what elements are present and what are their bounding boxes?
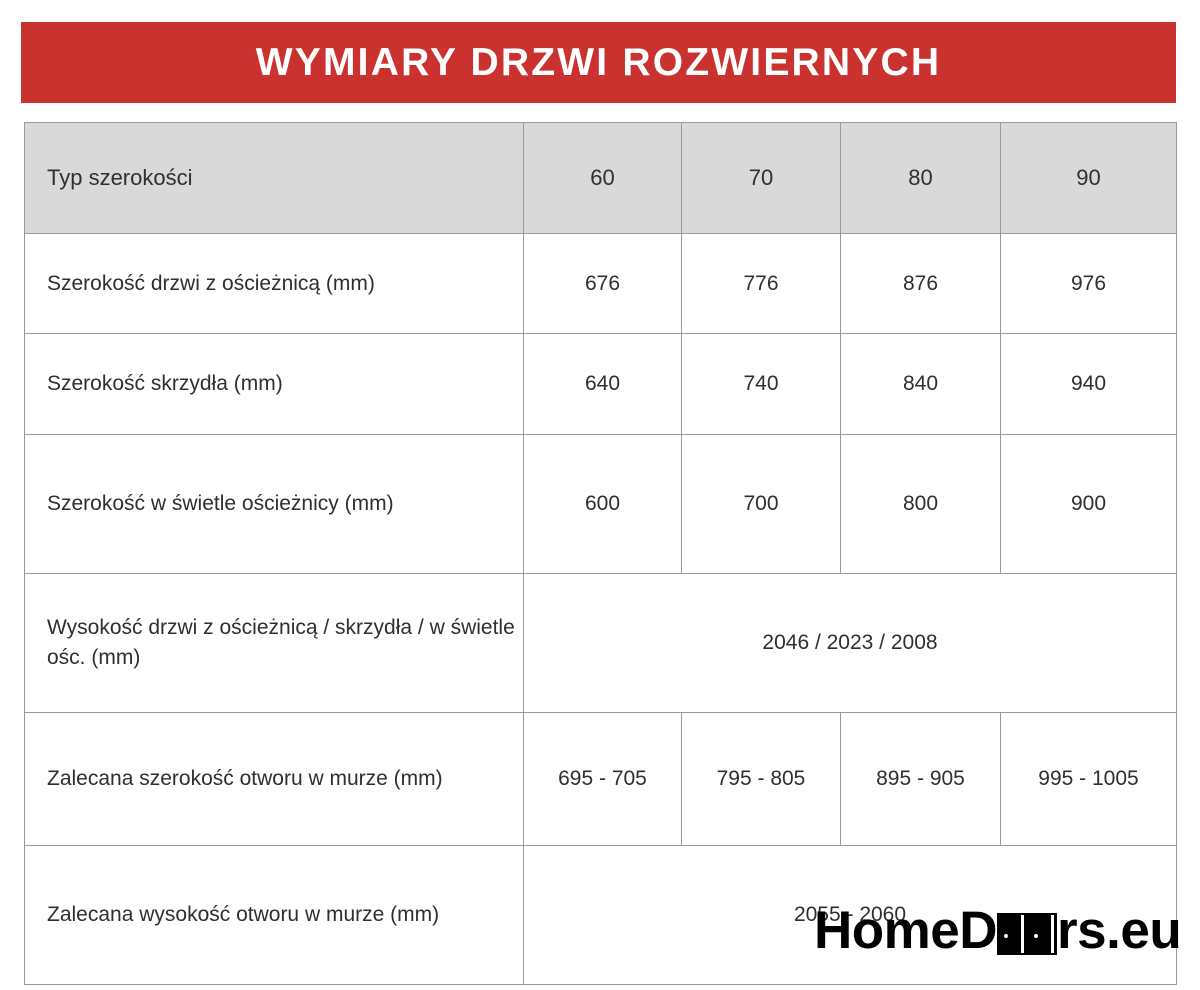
row-label: Zalecana szerokość otworu w murze (mm) — [25, 713, 524, 846]
header-cell-90: 90 — [1001, 123, 1177, 234]
cell-60: 600 — [524, 435, 682, 574]
cell-60: 676 — [524, 234, 682, 334]
row-label: Szerokość skrzydła (mm) — [25, 334, 524, 435]
cell-merged-height: 2046 / 2023 / 2008 — [524, 574, 1177, 713]
header-cell-70: 70 — [682, 123, 841, 234]
cell-80: 876 — [841, 234, 1001, 334]
cell-80: 840 — [841, 334, 1001, 435]
door-gap — [1051, 915, 1054, 953]
specs-table-body: Typ szerokości 60 70 80 90 Szerokość drz… — [25, 123, 1177, 985]
page-root: WYMIARY DRZWI ROZWIERNYCH Typ szerokości… — [0, 0, 1200, 990]
door-knob — [1034, 934, 1038, 938]
row-label: Wysokość drzwi z ościeżnicą / skrzydła /… — [25, 574, 524, 713]
door-gap — [1021, 915, 1024, 953]
row-label: Zalecana wysokość otworu w murze (mm) — [25, 846, 524, 985]
banner: WYMIARY DRZWI ROZWIERNYCH — [21, 22, 1176, 103]
header-cell-80: 80 — [841, 123, 1001, 234]
cell-90: 995 - 1005 — [1001, 713, 1177, 846]
cell-90: 940 — [1001, 334, 1177, 435]
row-label: Szerokość drzwi z ościeżnicą (mm) — [25, 234, 524, 334]
cell-70: 740 — [682, 334, 841, 435]
table-row: Szerokość w świetle ościeżnicy (mm) 600 … — [25, 435, 1177, 574]
cell-60: 640 — [524, 334, 682, 435]
table-row: Wysokość drzwi z ościeżnicą / skrzydła /… — [25, 574, 1177, 713]
brand-logo: HomeD rs.eu — [814, 902, 1181, 958]
cell-70: 795 - 805 — [682, 713, 841, 846]
cell-80: 895 - 905 — [841, 713, 1001, 846]
table-header-row: Typ szerokości 60 70 80 90 — [25, 123, 1177, 234]
table-row: Zalecana szerokość otworu w murze (mm) 6… — [25, 713, 1177, 846]
header-cell-type: Typ szerokości — [25, 123, 524, 234]
cell-90: 976 — [1001, 234, 1177, 334]
header-cell-60: 60 — [524, 123, 682, 234]
table-row: Szerokość drzwi z ościeżnicą (mm) 676 77… — [25, 234, 1177, 334]
specs-table: Typ szerokości 60 70 80 90 Szerokość drz… — [24, 122, 1177, 985]
cell-70: 776 — [682, 234, 841, 334]
cell-80: 800 — [841, 435, 1001, 574]
row-label: Szerokość w świetle ościeżnicy (mm) — [25, 435, 524, 574]
door-knob — [1004, 934, 1008, 938]
logo-text-left: HomeD — [814, 904, 997, 957]
table-row: Szerokość skrzydła (mm) 640 740 840 940 — [25, 334, 1177, 435]
door-icon — [997, 913, 1027, 955]
cell-90: 900 — [1001, 435, 1177, 574]
cell-60: 695 - 705 — [524, 713, 682, 846]
cell-70: 700 — [682, 435, 841, 574]
logo-text-right: rs.eu — [1057, 904, 1181, 957]
page-title: WYMIARY DRZWI ROZWIERNYCH — [256, 43, 941, 82]
specs-table-wrap: Typ szerokości 60 70 80 90 Szerokość drz… — [24, 122, 1176, 985]
door-icon — [1027, 913, 1057, 955]
